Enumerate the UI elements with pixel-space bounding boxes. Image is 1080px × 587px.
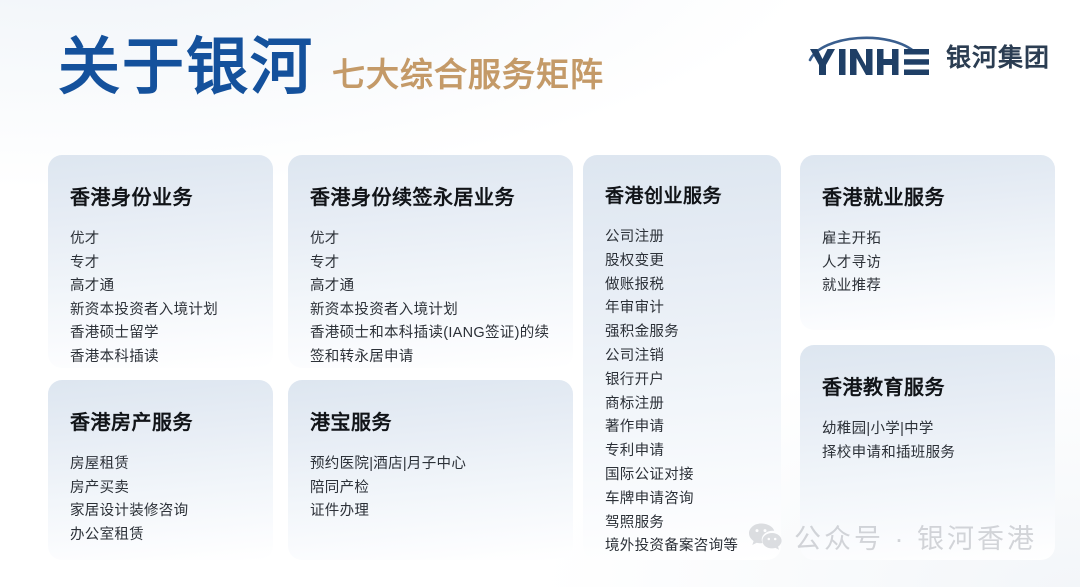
service-card-renewal[interactable]: 香港身份续签永居业务 优才 专才 高才通 新资本投资者入境计划 香港硕士和本科插… bbox=[288, 155, 573, 368]
card-title: 香港身份业务 bbox=[70, 181, 251, 210]
list-item: 公司注销 bbox=[605, 345, 759, 369]
list-item: 车牌申请咨询 bbox=[605, 488, 759, 512]
page-title-main: 关于银河 bbox=[58, 36, 314, 99]
card-title: 香港教育服务 bbox=[822, 371, 1033, 400]
list-item: 优才 bbox=[70, 228, 251, 252]
slide-stage: 关于银河 七大综合服务矩阵 bbox=[0, 0, 1080, 587]
list-item: 年审审计 bbox=[605, 297, 759, 321]
list-item: 境外投资备案咨询等 bbox=[605, 535, 759, 559]
list-item: 公司注册 bbox=[605, 226, 759, 250]
list-item: 专利申请 bbox=[605, 440, 759, 464]
list-item: 幼稚园|小学|中学 bbox=[822, 418, 1033, 442]
card-item-list: 幼稚园|小学|中学 择校申请和插班服务 bbox=[822, 418, 1033, 465]
list-item: 家居设计装修咨询 bbox=[70, 500, 251, 524]
page-title: 关于银河 七大综合服务矩阵 bbox=[58, 36, 604, 99]
list-item: 专才 bbox=[310, 252, 551, 276]
list-item: 香港本科插读 bbox=[70, 346, 251, 369]
service-card-startup[interactable]: 香港创业服务 公司注册 股权变更 做账报税 年审审计 强积金服务 公司注销 银行… bbox=[583, 155, 781, 560]
card-title: 香港身份续签永居业务 bbox=[310, 181, 551, 210]
brand-logo-cn-text: 银河集团 bbox=[946, 38, 1050, 74]
card-item-list: 优才 专才 高才通 新资本投资者入境计划 香港硕士留学 香港本科插读 bbox=[70, 228, 251, 368]
list-item: 著作申请 bbox=[605, 416, 759, 440]
list-item: 人才寻访 bbox=[822, 252, 1033, 276]
list-item: 强积金服务 bbox=[605, 321, 759, 345]
card-item-list: 房屋租赁 房产买卖 家居设计装修咨询 办公室租赁 bbox=[70, 453, 251, 547]
list-item: 高才通 bbox=[310, 275, 551, 299]
list-item: 就业推荐 bbox=[822, 275, 1033, 299]
list-item: 择校申请和插班服务 bbox=[822, 442, 1033, 466]
list-item: 优才 bbox=[310, 228, 551, 252]
list-item: 香港硕士和本科插读(IANG签证)的续签和转永居申请 bbox=[310, 322, 551, 368]
service-card-education[interactable]: 香港教育服务 幼稚园|小学|中学 择校申请和插班服务 bbox=[800, 345, 1055, 560]
list-item: 房产买卖 bbox=[70, 477, 251, 501]
card-item-list: 优才 专才 高才通 新资本投资者入境计划 香港硕士和本科插读(IANG签证)的续… bbox=[310, 228, 551, 368]
card-title: 香港创业服务 bbox=[605, 181, 759, 208]
list-item: 陪同产检 bbox=[310, 477, 551, 501]
service-card-identity[interactable]: 香港身份业务 优才 专才 高才通 新资本投资者入境计划 香港硕士留学 香港本科插… bbox=[48, 155, 273, 368]
service-card-baby[interactable]: 港宝服务 预约医院|酒店|月子中心 陪同产检 证件办理 bbox=[288, 380, 573, 560]
list-item: 驾照服务 bbox=[605, 512, 759, 536]
list-item: 银行开户 bbox=[605, 369, 759, 393]
list-item: 新资本投资者入境计划 bbox=[70, 299, 251, 323]
slide-header: 关于银河 七大综合服务矩阵 bbox=[0, 0, 1080, 146]
card-title: 香港就业服务 bbox=[822, 181, 1033, 210]
list-item: 高才通 bbox=[70, 275, 251, 299]
card-title: 港宝服务 bbox=[310, 406, 551, 435]
list-item: 新资本投资者入境计划 bbox=[310, 299, 551, 323]
list-item: 房屋租赁 bbox=[70, 453, 251, 477]
list-item: 证件办理 bbox=[310, 500, 551, 524]
list-item: 预约医院|酒店|月子中心 bbox=[310, 453, 551, 477]
list-item: 香港硕士留学 bbox=[70, 322, 251, 346]
page-title-subtitle: 七大综合服务矩阵 bbox=[332, 58, 604, 100]
list-item: 做账报税 bbox=[605, 274, 759, 298]
card-item-list: 预约医院|酒店|月子中心 陪同产检 证件办理 bbox=[310, 453, 551, 524]
card-title: 香港房产服务 bbox=[70, 406, 251, 435]
list-item: 专才 bbox=[70, 252, 251, 276]
card-item-list: 公司注册 股权变更 做账报税 年审审计 强积金服务 公司注销 银行开户 商标注册… bbox=[605, 226, 759, 559]
list-item: 股权变更 bbox=[605, 250, 759, 274]
brand-logo: 银河集团 bbox=[806, 32, 1050, 80]
list-item: 雇主开拓 bbox=[822, 228, 1033, 252]
card-item-list: 雇主开拓 人才寻访 就业推荐 bbox=[822, 228, 1033, 299]
list-item: 办公室租赁 bbox=[70, 524, 251, 548]
list-item: 商标注册 bbox=[605, 393, 759, 417]
list-item: 国际公证对接 bbox=[605, 464, 759, 488]
service-card-property[interactable]: 香港房产服务 房屋租赁 房产买卖 家居设计装修咨询 办公室租赁 bbox=[48, 380, 273, 560]
service-card-employment[interactable]: 香港就业服务 雇主开拓 人才寻访 就业推荐 bbox=[800, 155, 1055, 330]
yinhe-logo-mark bbox=[806, 33, 934, 79]
